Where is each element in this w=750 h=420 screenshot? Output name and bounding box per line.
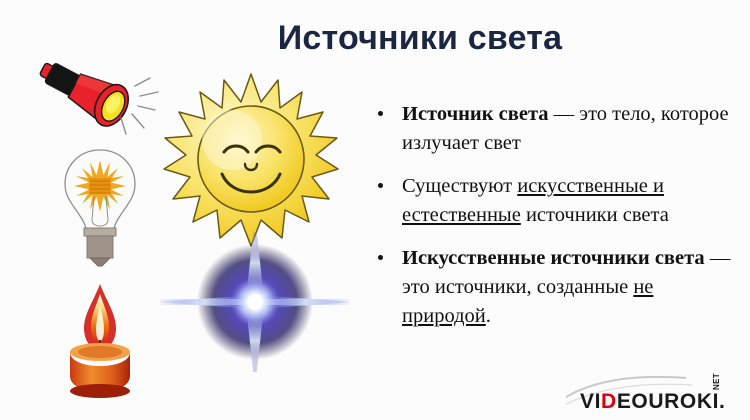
watermark-brand-red: D [601,390,617,413]
bullet-2-rest: источники света [521,204,669,226]
page-title: Источники света [210,18,630,58]
bullet-dot-icon [378,183,383,188]
bullet-1-dash: — [549,103,580,125]
candle-illustration [44,272,156,398]
watermark-brand: VIDEOUROKI. [580,390,725,414]
bullet-3-tail: . [486,305,491,327]
list-item: Существуют искусственные и естественные … [372,172,740,230]
star-illustration [160,232,350,372]
watermark-tld: NET [712,373,721,390]
bullet-dot-icon [378,111,383,116]
bullet-3-dash: — [705,247,731,269]
watermark-brand-left: VI [580,390,601,413]
bullet-3-bold-lead: Искусственные источники света [402,247,705,269]
lightbulb-illustration [48,142,153,267]
bullet-1-bold-lead: Источник света [402,103,549,125]
slide-canvas: Источники света [0,0,750,420]
watermark-logo: VIDEOUROKI. NET [566,376,746,418]
bullet-dot-icon [378,255,383,260]
bullet-list: Источник света — это тело, которое излуч… [372,100,740,331]
flashlight-illustration [22,48,162,143]
sun-illustration [160,68,342,253]
list-item: Источник света — это тело, которое излуч… [372,100,740,158]
bullet-2-lead: Существуют [402,175,517,197]
watermark-brand-right: EOUROKI. [617,390,726,413]
list-item: Искусственные источники света — это исто… [372,244,740,331]
bullet-3-mid: это источники, созданные [402,276,633,298]
